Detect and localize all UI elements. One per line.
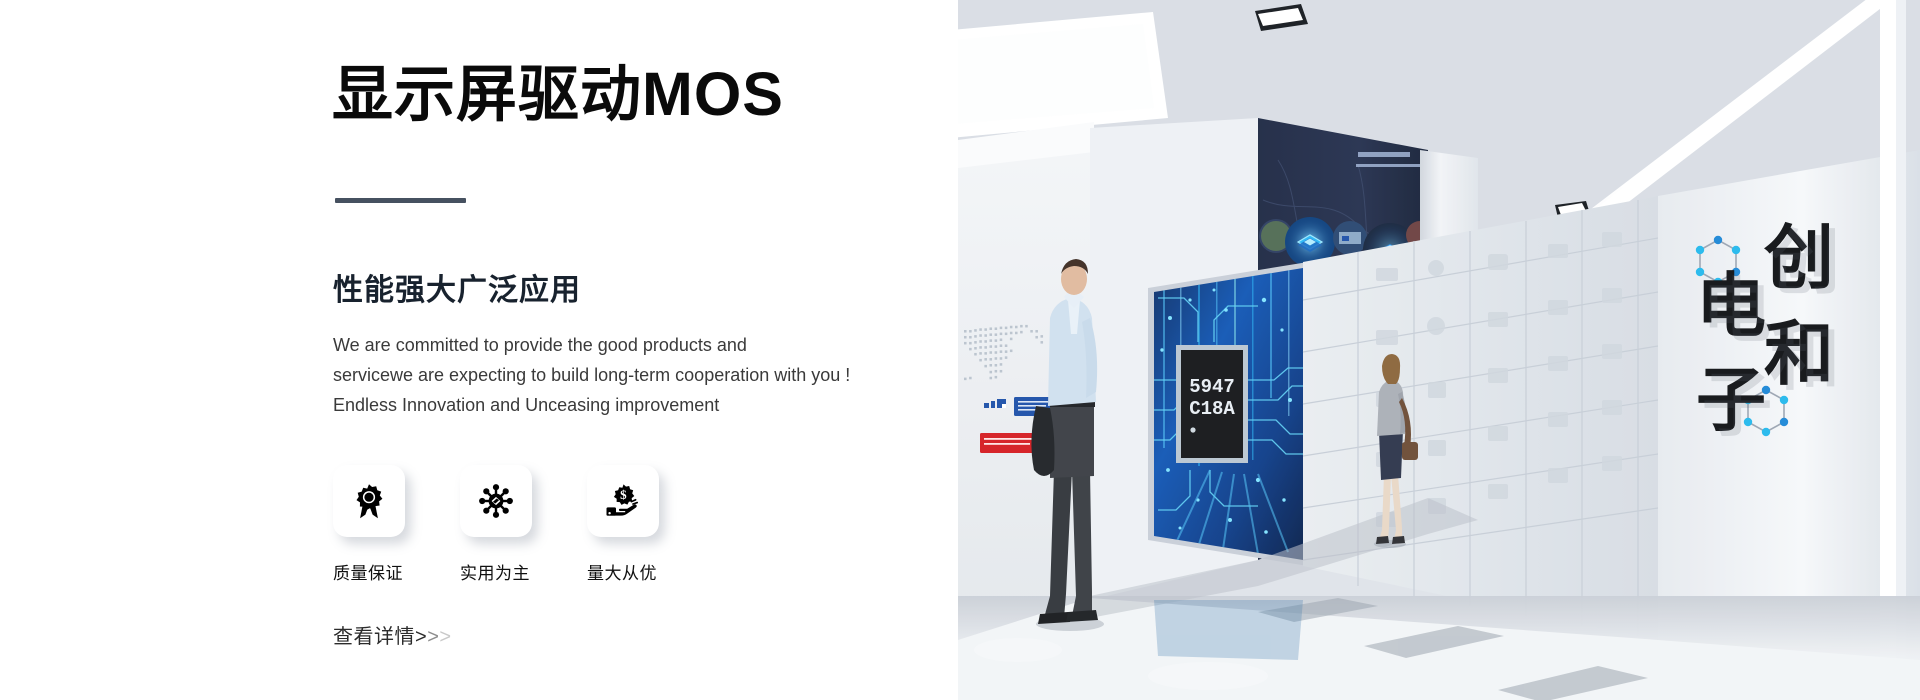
network-hub-icon (476, 481, 516, 521)
award-ribbon-icon (349, 481, 389, 521)
chevron-3-icon: > (439, 626, 451, 648)
banner-text-panel: 显示屏驱动MOS 性能强大广泛应用 We are committed to pr… (0, 0, 958, 700)
svg-text:$: $ (620, 487, 627, 502)
feature-list: 质量保证 (333, 465, 659, 584)
feature-item-quality[interactable]: 质量保证 (333, 465, 405, 584)
feature-label: 实用为主 (460, 559, 532, 584)
hand-money-icon: $ (603, 481, 643, 521)
chevron-1-icon: > (415, 626, 427, 648)
description-line-3: Endless Innovation and Unceasing improve… (333, 390, 893, 420)
chevron-2-icon: > (427, 626, 439, 648)
description-line-2: servicewe are expecting to build long-te… (333, 360, 893, 390)
product-banner: 显示屏驱动MOS 性能强大广泛应用 We are committed to pr… (0, 0, 1920, 700)
feature-item-practical[interactable]: 实用为主 (460, 465, 532, 584)
title-divider (335, 198, 466, 203)
view-details-label: 查看详情 (333, 626, 415, 648)
feature-icon-tile: $ (587, 465, 659, 537)
feature-label: 量大从优 (587, 559, 659, 584)
showroom-illustration: 5947 C18A (958, 0, 1920, 700)
feature-icon-tile (333, 465, 405, 537)
feature-label: 质量保证 (333, 559, 405, 584)
feature-item-bulk-discount[interactable]: $ 量大从优 (587, 465, 659, 584)
feature-icon-tile (460, 465, 532, 537)
showroom-photo: 5947 C18A (958, 0, 1920, 700)
description-line-1: We are committed to provide the good pro… (333, 330, 893, 360)
banner-description: We are committed to provide the good pro… (333, 330, 893, 420)
banner-subtitle: 性能强大广泛应用 (333, 265, 581, 309)
view-details-link[interactable]: 查看详情>>> (333, 620, 452, 649)
page-title: 显示屏驱动MOS (332, 62, 784, 126)
